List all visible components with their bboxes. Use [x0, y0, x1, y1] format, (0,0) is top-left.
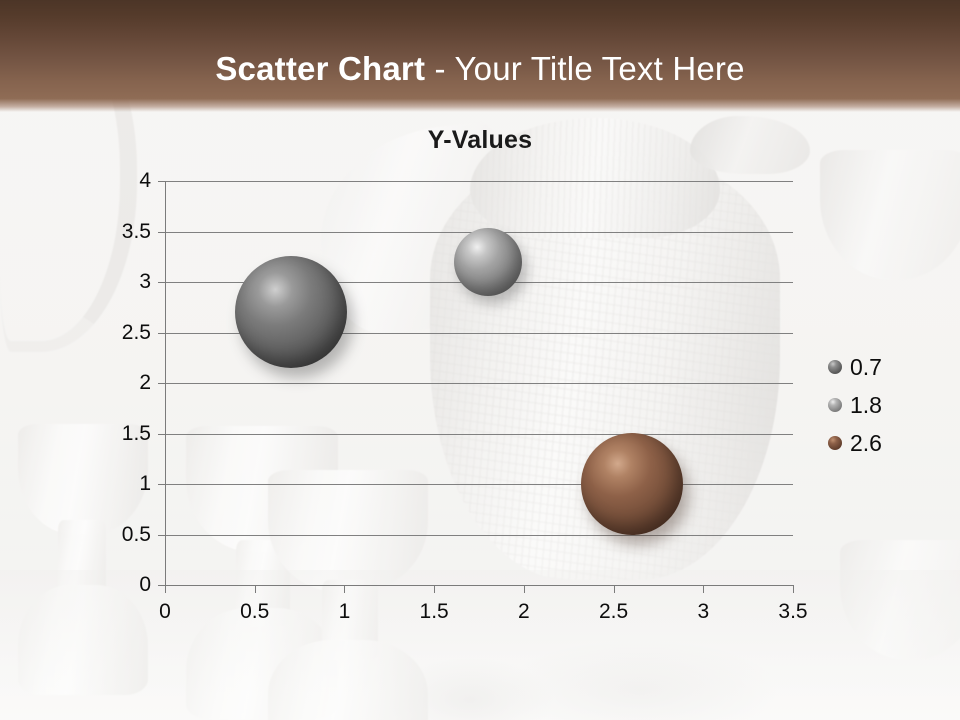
- x-tick-3: [434, 586, 435, 593]
- x-axis-line: [165, 585, 794, 586]
- data-point-2.6[interactable]: [581, 433, 683, 535]
- y-tick-label-0: 0: [95, 574, 151, 595]
- x-tick-label-6: 3: [673, 601, 733, 622]
- x-tick-label-0: 0: [135, 601, 195, 622]
- gridline-y-2: [165, 484, 793, 485]
- y-tick-label-3: 1.5: [95, 423, 151, 444]
- y-tick-4: [158, 383, 165, 384]
- legend-label: 0.7: [850, 356, 882, 379]
- legend-label: 1.8: [850, 394, 882, 417]
- x-tick-label-5: 2.5: [584, 601, 644, 622]
- y-tick-5: [158, 333, 165, 334]
- data-point-0.7[interactable]: [235, 256, 347, 368]
- x-tick-1: [255, 586, 256, 593]
- legend-label: 2.6: [850, 432, 882, 455]
- gridline-y-8: [165, 181, 793, 182]
- x-tick-label-1: 0.5: [225, 601, 285, 622]
- legend-item-0.7[interactable]: 0.7: [828, 348, 882, 386]
- y-tick-label-5: 2.5: [95, 322, 151, 343]
- gridline-y-3: [165, 434, 793, 435]
- x-tick-4: [524, 586, 525, 593]
- x-tick-2: [344, 586, 345, 593]
- x-tick-7: [793, 586, 794, 593]
- slide-title: Scatter Chart - Your Title Text Here: [0, 50, 960, 88]
- slide-canvas: Scatter Chart - Your Title Text Here Y-V…: [0, 0, 960, 720]
- x-tick-label-4: 2: [494, 601, 554, 622]
- y-tick-3: [158, 434, 165, 435]
- gridline-y-4: [165, 383, 793, 384]
- chart-legend: 0.71.82.6: [828, 348, 882, 462]
- x-tick-0: [165, 586, 166, 593]
- gridline-y-1: [165, 535, 793, 536]
- y-tick-label-8: 4: [95, 170, 151, 191]
- chart-title: Y-Values: [0, 126, 960, 155]
- y-tick-label-1: 0.5: [95, 524, 151, 545]
- slide-title-strong: Scatter Chart: [215, 50, 425, 87]
- y-tick-label-2: 1: [95, 473, 151, 494]
- y-tick-6: [158, 282, 165, 283]
- x-tick-label-3: 1.5: [404, 601, 464, 622]
- legend-marker-icon: [828, 436, 842, 450]
- x-tick-label-2: 1: [314, 601, 374, 622]
- x-tick-6: [703, 586, 704, 593]
- y-tick-1: [158, 535, 165, 536]
- y-tick-2: [158, 484, 165, 485]
- y-axis-line: [165, 181, 166, 586]
- y-tick-7: [158, 232, 165, 233]
- data-point-1.8[interactable]: [454, 228, 522, 296]
- legend-marker-icon: [828, 360, 842, 374]
- legend-item-1.8[interactable]: 1.8: [828, 386, 882, 424]
- x-tick-5: [614, 586, 615, 593]
- y-tick-label-4: 2: [95, 372, 151, 393]
- y-tick-8: [158, 181, 165, 182]
- x-tick-label-7: 3.5: [763, 601, 823, 622]
- y-tick-label-6: 3: [95, 271, 151, 292]
- legend-marker-icon: [828, 398, 842, 412]
- legend-item-2.6[interactable]: 2.6: [828, 424, 882, 462]
- y-tick-label-7: 3.5: [95, 221, 151, 242]
- y-tick-0: [158, 585, 165, 586]
- slide-title-light: - Your Title Text Here: [425, 50, 745, 87]
